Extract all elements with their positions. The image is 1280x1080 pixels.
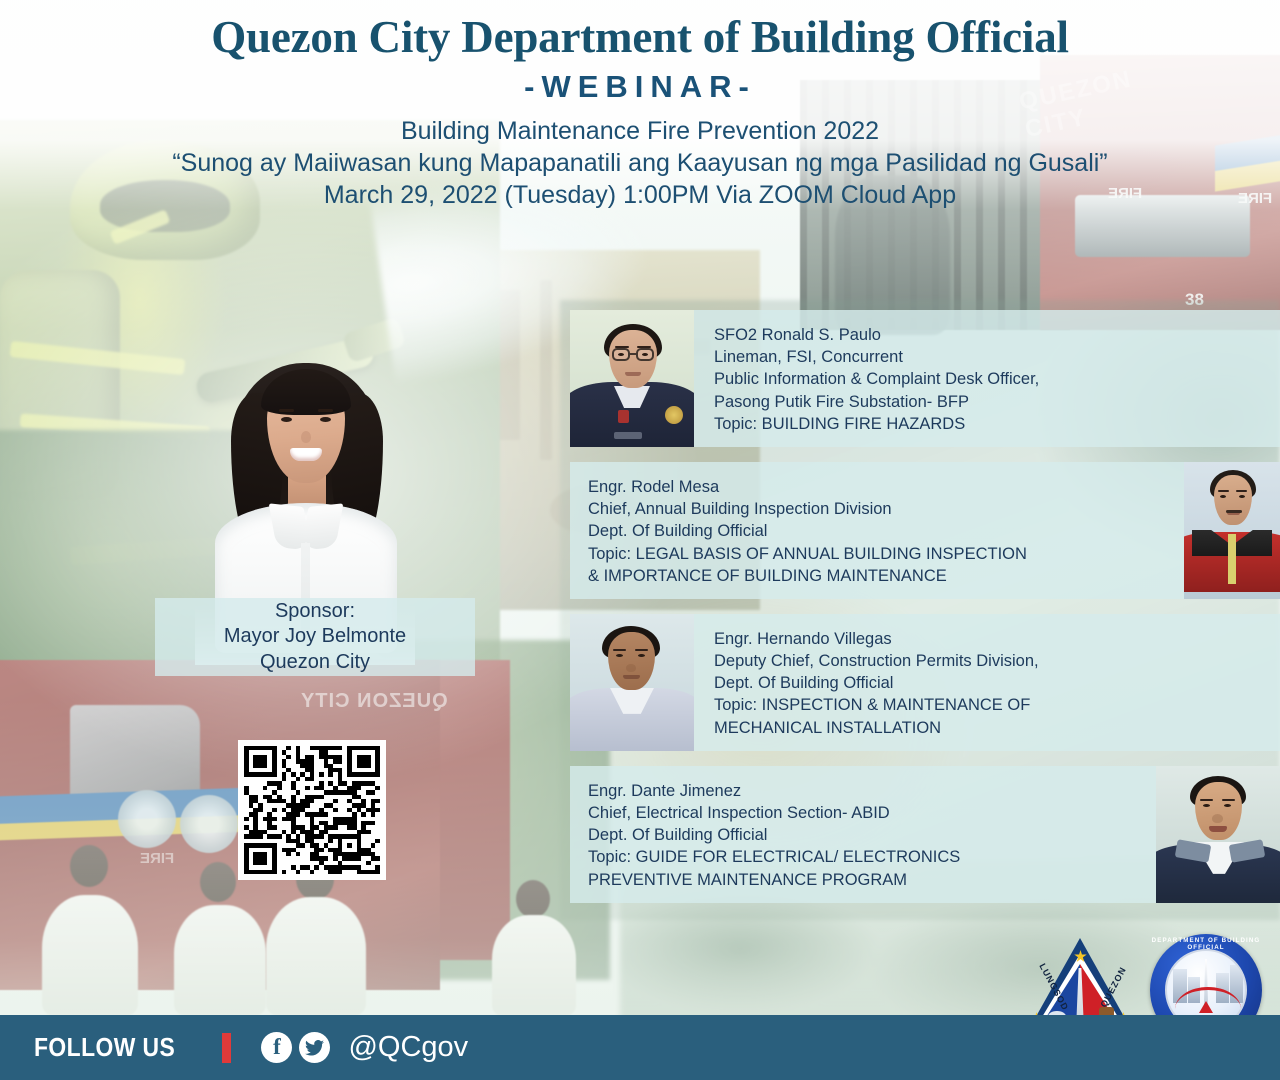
subtitle-line-2: “Sunog ay Maiiwasan kung Mapapanatili an… [0,147,1280,179]
speaker-line: Public Information & Complaint Desk Offi… [714,368,1264,390]
poster-header: Quezon City Department of Building Offic… [0,0,1280,211]
mayor-nose [301,431,311,443]
speaker-line: Chief, Electrical Inspection Section- AB… [588,802,1140,824]
speaker-line: Pasong Putik Fire Substation- BFP [714,391,1264,413]
subtitle-line-1: Building Maintenance Fire Prevention 202… [0,115,1280,147]
webinar-poster: FIRE FIRE 38 QUEZON CITY QUEZON CITY FIR… [0,0,1280,1080]
speaker-line: Engr. Hernando Villegas [714,628,1264,650]
speaker-line: Lineman, FSI, Concurrent [714,346,1264,368]
speaker-line: PREVENTIVE MAINTENANCE PROGRAM [588,869,1140,891]
speaker-card-text: SFO2 Ronald S. Paulo Lineman, FSI, Concu… [694,310,1280,447]
mayor-eye-left [281,417,292,422]
mayor-eye-right [320,417,331,422]
speaker-line: Dept. Of Building Official [588,520,1168,542]
speaker-line: Dept. Of Building Official [588,824,1140,846]
speaker-line: SFO2 Ronald S. Paulo [714,324,1264,346]
speaker-line: Topic: LEGAL BASIS OF ANNUAL BUILDING IN… [588,543,1168,565]
speaker-line: Engr. Dante Jimenez [588,780,1140,802]
page-title: Quezon City Department of Building Offic… [0,14,1280,61]
speaker-card-text: Engr. Rodel Mesa Chief, Annual Building … [570,462,1184,599]
speaker-photo-dante-jimenez [1156,766,1280,903]
sponsor-city: Quezon City [260,650,370,675]
social-handle: @QCgov [348,1031,468,1064]
twitter-icon[interactable] [299,1032,330,1063]
mayor-brow-right [318,409,333,412]
speaker-line: Dept. Of Building Official [714,672,1264,694]
speaker-line: Chief, Annual Building Inspection Divisi… [588,498,1168,520]
mayor-smile [290,448,322,461]
speaker-photo-ronald-paulo [570,310,694,447]
speaker-line: MECHANICAL INSTALLATION [714,717,1264,739]
speaker-card: SFO2 Ronald S. Paulo Lineman, FSI, Concu… [570,310,1280,447]
speaker-line: & IMPORTANCE OF BUILDING MAINTENANCE [588,565,1168,587]
speaker-card-text: Engr. Dante Jimenez Chief, Electrical In… [570,766,1156,903]
facebook-icon[interactable]: f [261,1032,292,1063]
footer-divider [222,1033,231,1063]
footer-bar: FOLLOW US f @QCgov [0,1015,1280,1080]
qr-code[interactable] [238,740,386,880]
speaker-card-text: Engr. Hernando Villegas Deputy Chief, Co… [694,614,1280,751]
speaker-card: Engr. Dante Jimenez Chief, Electrical In… [570,766,1280,903]
speaker-line: Topic: GUIDE FOR ELECTRICAL/ ELECTRONICS [588,846,1140,868]
speaker-photo-rodel-mesa [1184,462,1280,599]
speaker-cards: SFO2 Ronald S. Paulo Lineman, FSI, Concu… [570,310,1280,903]
subtitle-line-3: March 29, 2022 (Tuesday) 1:00PM Via ZOOM… [0,179,1280,211]
speaker-card: Engr. Rodel Mesa Chief, Annual Building … [570,462,1280,599]
speaker-line: Deputy Chief, Construction Permits Divis… [714,650,1264,672]
follow-us-label: FOLLOW US [34,1032,175,1063]
speaker-card: Engr. Hernando Villegas Deputy Chief, Co… [570,614,1280,751]
speaker-line: Topic: BUILDING FIRE HAZARDS [714,413,1264,435]
mayor-brow-left [279,409,294,412]
social-icons: f @QCgov [261,1031,468,1064]
speaker-line: Topic: INSPECTION & MAINTENANCE OF [714,694,1264,716]
sponsor-name: Mayor Joy Belmonte [224,624,406,649]
sponsor-label: Sponsor: [275,599,355,624]
speaker-photo-hernando-villegas [570,614,694,751]
webinar-label: -WEBINAR- [0,69,1280,105]
qr-code-pattern [244,746,380,874]
speaker-line: Engr. Rodel Mesa [588,476,1168,498]
sponsor-box: Sponsor: Mayor Joy Belmonte Quezon City [155,598,475,676]
